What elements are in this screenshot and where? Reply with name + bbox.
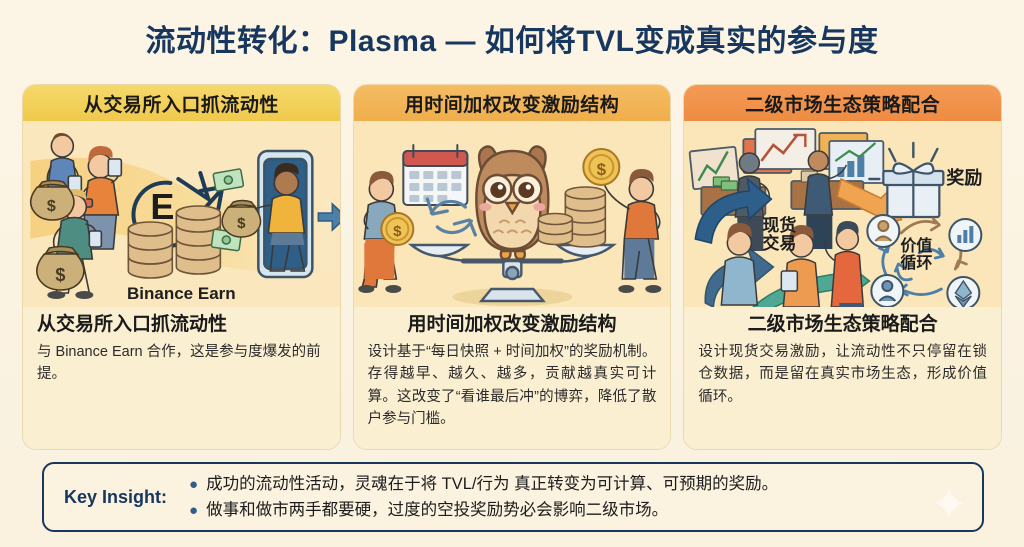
- panel-3-body: 二级市场生态策略配合 设计现货交易激励，让流动性不只停留在锁仓数据，而是留在真实…: [684, 307, 1001, 449]
- panel-3-illustration: 现货 交易 奖励 价值 循环: [684, 121, 1001, 307]
- coin-symbol: $: [596, 160, 606, 179]
- panel-2-text: 设计基于“每日快照 + 时间加权”的奖励机制。存得越早、越久、越多，贡献越真实可…: [368, 341, 657, 431]
- earn-logo-letter: E: [150, 186, 174, 227]
- svg-text:$: $: [47, 198, 56, 215]
- calendar-icon: [403, 145, 467, 205]
- panel-2-body: 用时间加权改变激励结构 设计基于“每日快照 + 时间加权”的奖励机制。存得越早、…: [354, 307, 671, 449]
- key-insight-box: Key Insight: ● 成功的流动性活动，灵魂在于将 TVL/行为 真正转…: [42, 462, 984, 532]
- panel-1-body: 从交易所入口抓流动性 与 Binance Earn 合作，这是参与度爆发的前提。: [23, 307, 340, 449]
- panel-3-text: 设计现货交易激励，让流动性不只停留在锁仓数据，而是留在真实市场生态，形成价值循环…: [698, 341, 987, 408]
- key-insight-item: ● 做事和做市两手都要硬，过度的空投奖励势必会影响二级市场。: [189, 497, 962, 523]
- user-icon: [872, 275, 904, 307]
- key-insight-item-text: 做事和做市两手都要硬，过度的空投奖励势必会影响二级市场。: [206, 497, 668, 523]
- page-title: 流动性转化：Plasma — 如何将TVL变成真实的参与度: [0, 16, 1024, 60]
- panel-2-subtitle: 用时间加权改变激励结构: [368, 313, 657, 337]
- exchange-liquidity-art: $ $ E: [23, 121, 340, 307]
- panel-exchange-liquidity[interactable]: 从交易所入口抓流动性: [22, 84, 341, 450]
- panel-1-header: 从交易所入口抓流动性: [23, 85, 340, 121]
- panel-3-header: 二级市场生态策略配合: [684, 85, 1001, 121]
- panel-2-illustration: $: [354, 121, 671, 307]
- ethereum-icon: [948, 277, 980, 307]
- svg-text:$: $: [237, 215, 246, 232]
- key-insight-item: ● 成功的流动性活动，灵魂在于将 TVL/行为 真正转变为可计算、可预期的奖励。: [189, 471, 962, 497]
- svg-text:$: $: [393, 223, 402, 240]
- secondary-market-art: [684, 121, 1001, 307]
- bullet-icon: ●: [189, 503, 198, 518]
- panel-secondary-market[interactable]: 二级市场生态策略配合: [683, 84, 1002, 450]
- coin-stack-icon: [128, 222, 172, 278]
- svg-text:$: $: [55, 265, 65, 285]
- key-insight-lines: ● 成功的流动性活动，灵魂在于将 TVL/行为 真正转变为可计算、可预期的奖励。…: [189, 471, 962, 524]
- key-insight-label: Key Insight:: [64, 487, 167, 508]
- panel-1-illustration: $ $ E: [23, 121, 340, 307]
- money-bag-icon: $: [31, 181, 74, 221]
- panel-2-header: 用时间加权改变激励结构: [354, 85, 671, 121]
- panel-1-subtitle: 从交易所入口抓流动性: [37, 313, 326, 337]
- panels-row: 从交易所入口抓流动性: [22, 84, 1002, 450]
- reward-label: 奖励: [946, 169, 982, 188]
- coin-stack-icon: [538, 214, 572, 245]
- owl-icon: [476, 147, 548, 260]
- gold-coin-icon: $: [381, 213, 413, 245]
- gold-coin-icon: $: [583, 149, 619, 185]
- banknote-icon: [213, 169, 244, 192]
- panel-1-text: 与 Binance Earn 合作，这是参与度爆发的前提。: [37, 341, 326, 386]
- panel-time-weighted-incentives[interactable]: 用时间加权改变激励结构: [353, 84, 672, 450]
- chart-icon: [950, 219, 982, 251]
- binance-earn-label: Binance Earn: [23, 285, 340, 303]
- key-insight-item-text: 成功的流动性活动，灵魂在于将 TVL/行为 真正转变为可计算、可预期的奖励。: [206, 471, 778, 497]
- value-cycle-label: 价值 循环: [900, 239, 932, 273]
- bullet-icon: ●: [189, 477, 198, 492]
- infographic-page: 流动性转化：Plasma — 如何将TVL变成真实的参与度 从交易所入口抓流动性: [0, 0, 1024, 547]
- spot-trading-label: 现货 交易: [762, 217, 796, 253]
- user-icon: [868, 215, 900, 247]
- panel-3-subtitle: 二级市场生态策略配合: [698, 313, 987, 337]
- owl-balance-art: $: [354, 121, 671, 307]
